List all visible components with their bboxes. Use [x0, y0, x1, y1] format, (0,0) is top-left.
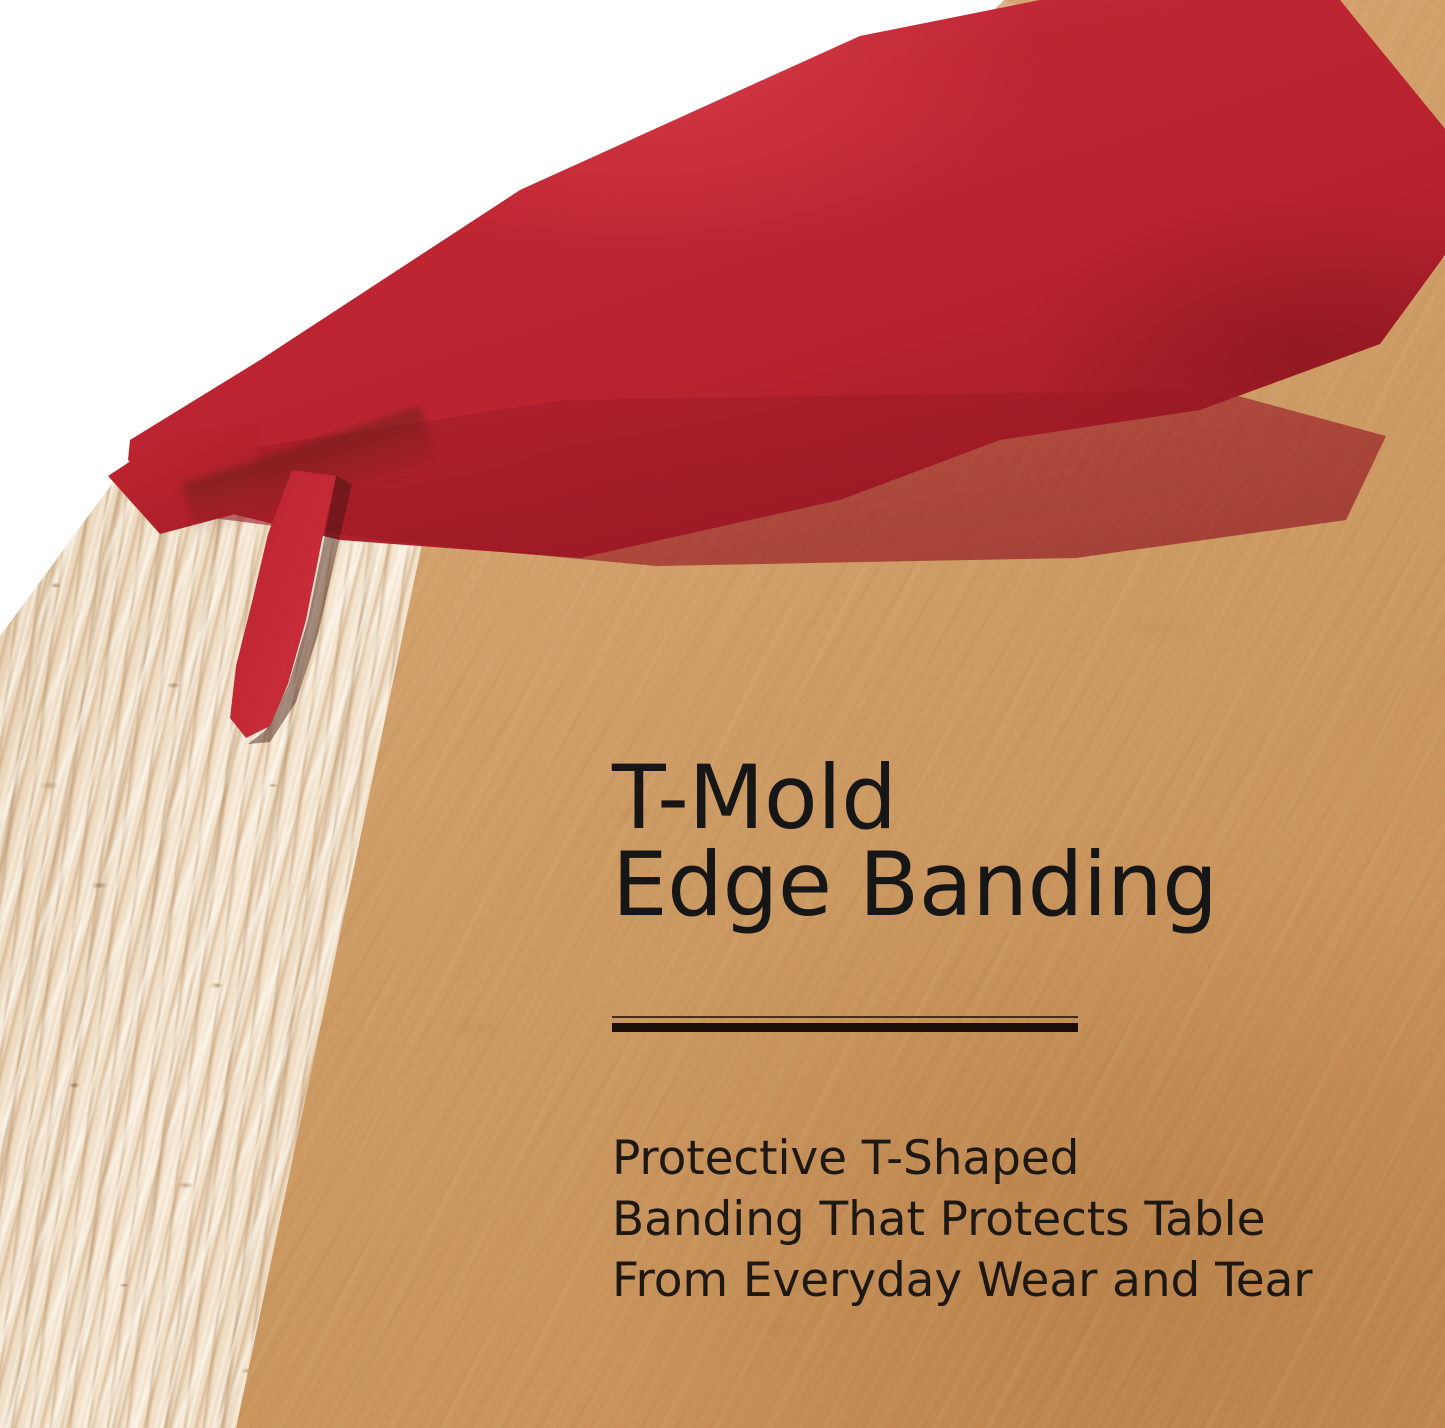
headline-block: T-Mold Edge Banding [612, 754, 1372, 928]
page-title: T-Mold Edge Banding [612, 754, 1372, 928]
divider-thick-rule [612, 1023, 1078, 1032]
divider [612, 1016, 1078, 1032]
divider-thin-rule [612, 1016, 1078, 1018]
product-feature-image: T-Mold Edge Banding Protective T-Shaped … [0, 0, 1445, 1428]
feature-description: Protective T-Shaped Banding That Protect… [612, 1128, 1392, 1311]
